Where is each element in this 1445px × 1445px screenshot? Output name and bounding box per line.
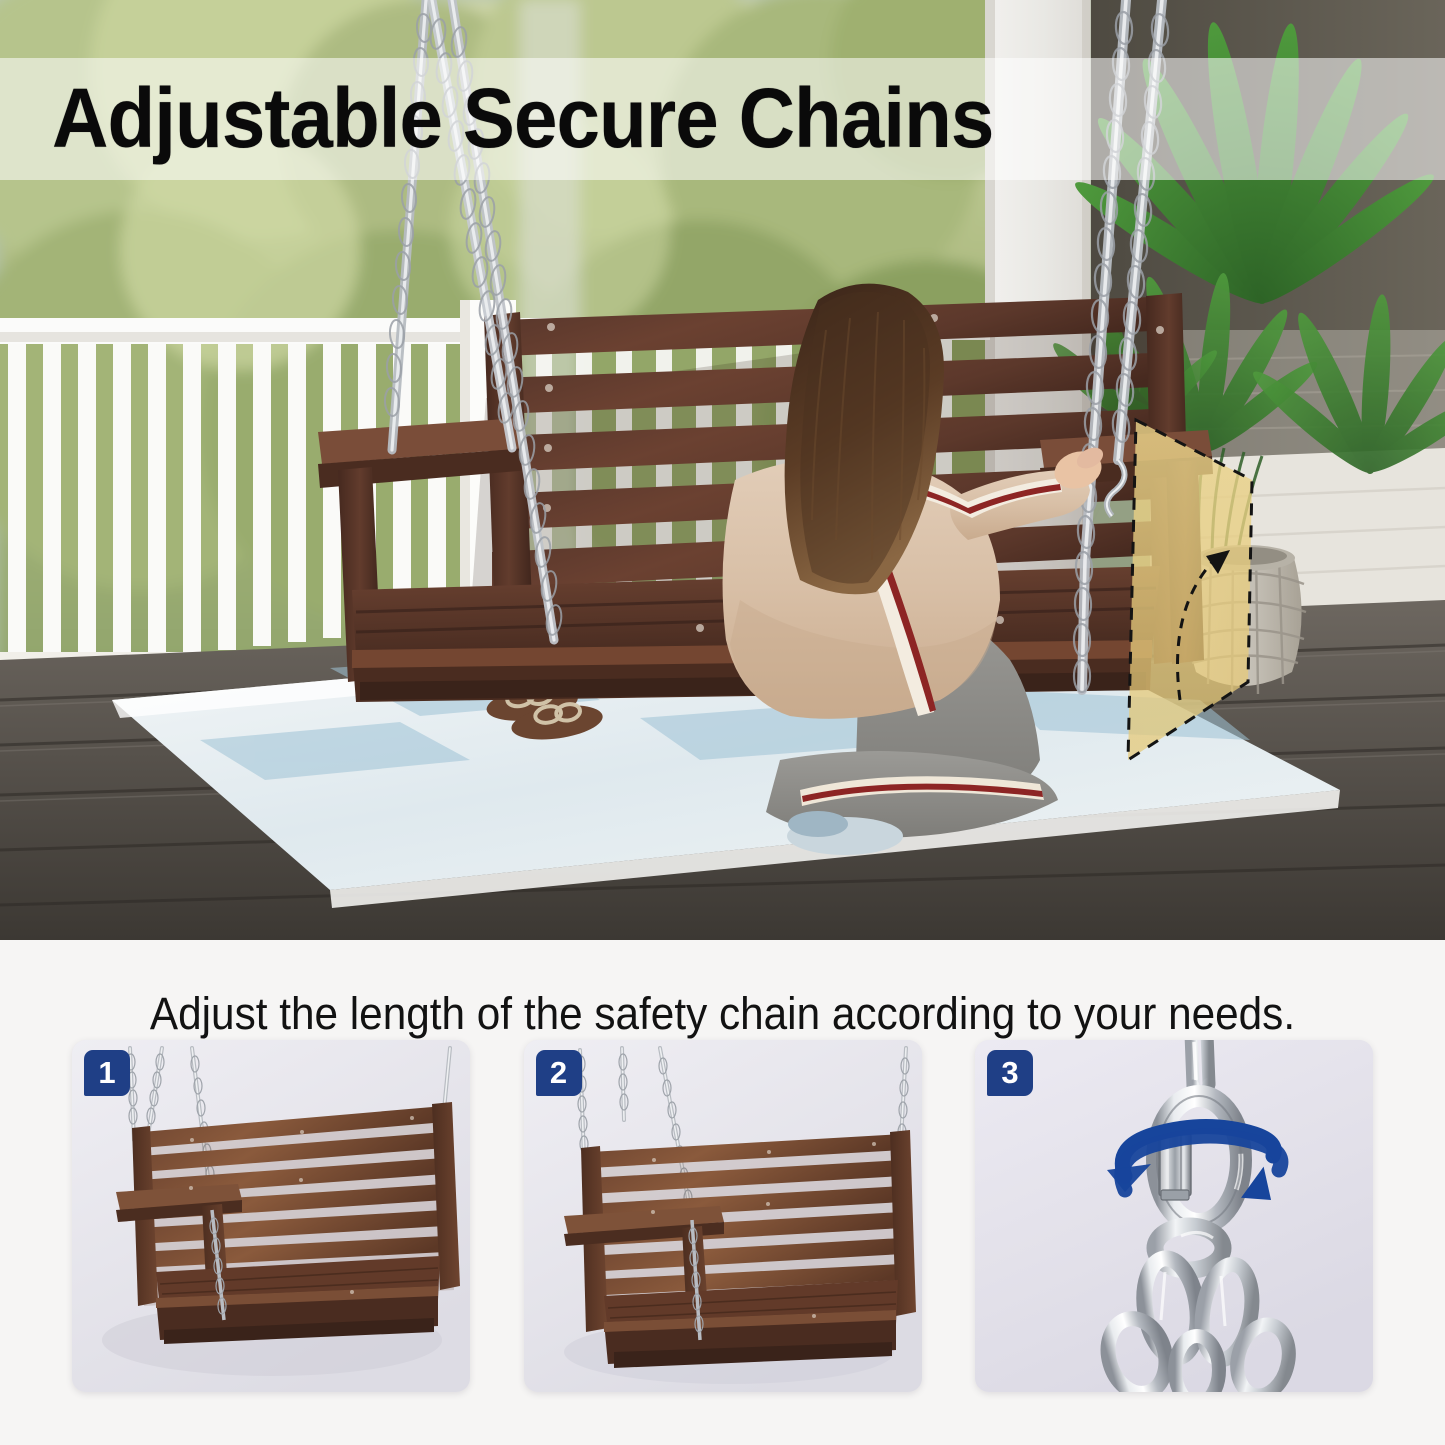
swing-low-illustration (524, 1040, 922, 1392)
hero-lifestyle-photo: Adjustable Secure Chains (0, 0, 1445, 940)
step-card-swing-high[interactable]: 1 (72, 1040, 470, 1392)
step-number-badge: 2 (536, 1050, 582, 1096)
step-card-chain-link[interactable]: 3 (975, 1040, 1373, 1392)
chain-quick-link-illustration (975, 1040, 1373, 1392)
steps-heading: Adjust the length of the safety chain ac… (43, 988, 1401, 1040)
step-number-badge: 3 (987, 1050, 1033, 1096)
steps-section: Adjust the length of the safety chain ac… (0, 940, 1445, 1445)
swing-body (116, 1102, 460, 1344)
steps-card-row: 1 (0, 1040, 1445, 1400)
swing-high-illustration (72, 1040, 470, 1392)
swing-body (564, 1130, 916, 1368)
page-title: Adjustable Secure Chains (52, 62, 993, 174)
step-card-swing-low[interactable]: 2 (524, 1040, 922, 1392)
product-infographic-page: Adjustable Secure Chains Adjust the leng… (0, 0, 1445, 1445)
step-number-badge: 1 (84, 1050, 130, 1096)
